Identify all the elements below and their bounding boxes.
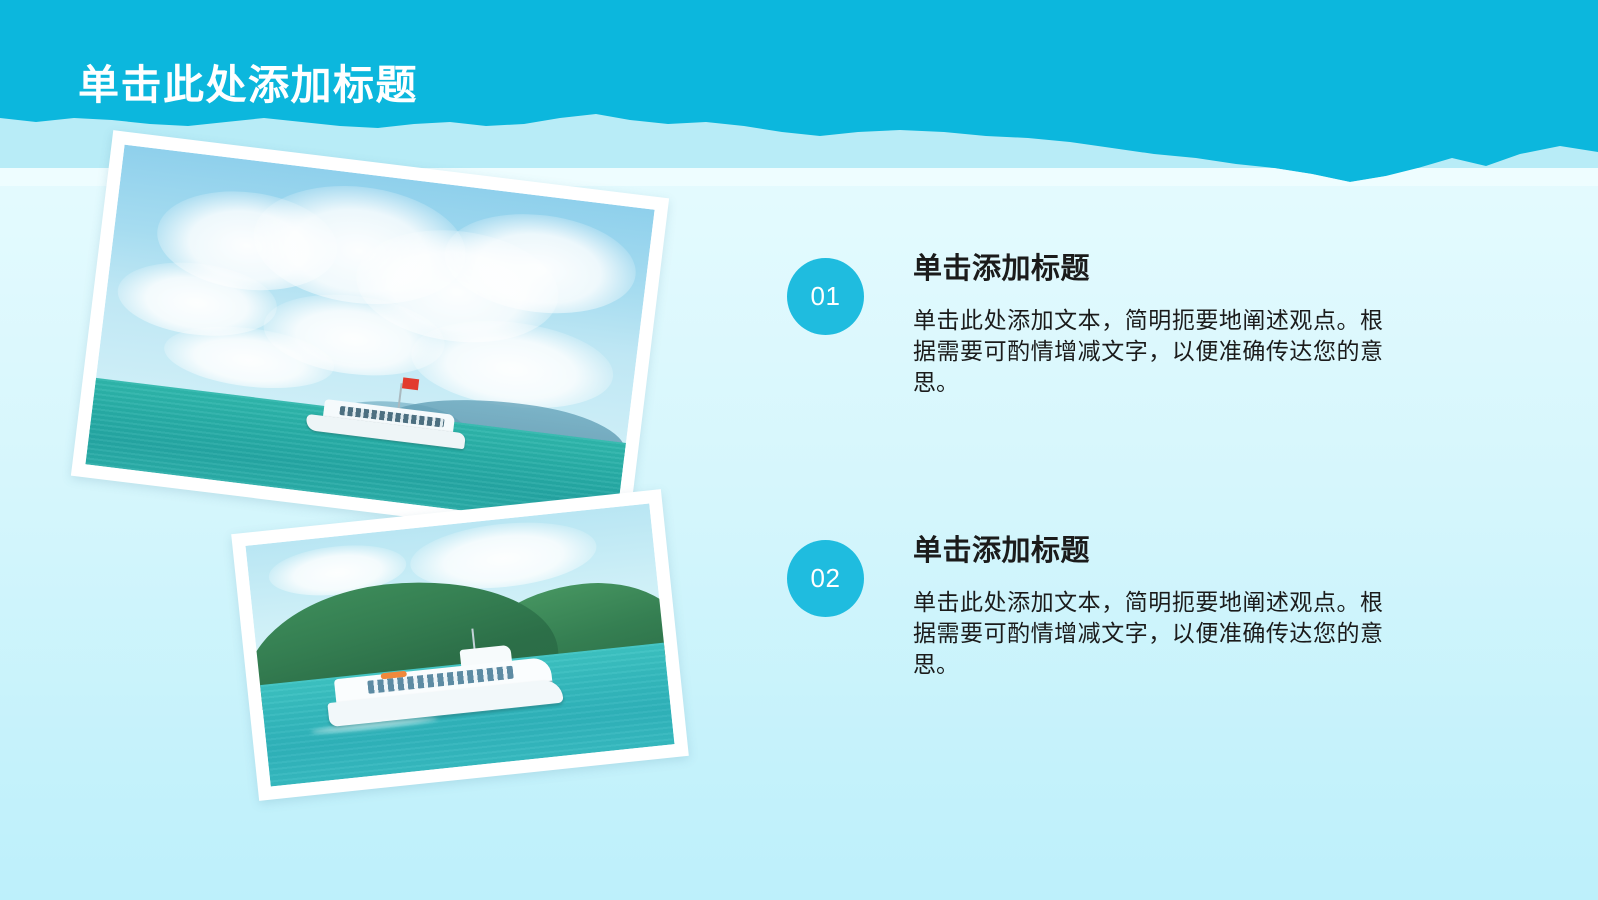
- scene-ferry-island: [245, 503, 674, 786]
- photo-frame-boat-clouds[interactable]: [71, 130, 669, 544]
- scene-boat-clouds: [85, 145, 654, 530]
- photo-image-ferry-island: [245, 503, 674, 786]
- photo-collage: [0, 0, 800, 900]
- item-title: 单击添加标题: [913, 250, 1407, 288]
- item-body: 单击此处添加文本，简明扼要地阐述观点。根据需要可酌情增减文字，以便准确传达您的意…: [913, 587, 1383, 680]
- red-flag-icon: [402, 377, 419, 390]
- list-item[interactable]: 01 单击添加标题 单击此处添加文本，简明扼要地阐述观点。根据需要可酌情增减文字…: [787, 250, 1407, 480]
- list-item[interactable]: 02 单击添加标题 单击此处添加文本，简明扼要地阐述观点。根据需要可酌情增减文字…: [787, 532, 1407, 762]
- slide-canvas: 单击此处添加标题: [0, 0, 1598, 900]
- item-text-block: 单击添加标题 单击此处添加文本，简明扼要地阐述观点。根据需要可酌情增减文字，以便…: [913, 532, 1407, 680]
- item-number-badge: 01: [787, 258, 864, 335]
- page-title: 单击此处添加标题: [78, 60, 418, 110]
- photo-image-boat-clouds: [85, 145, 654, 530]
- content-list: 01 单击添加标题 单击此处添加文本，简明扼要地阐述观点。根据需要可酌情增减文字…: [787, 250, 1407, 762]
- item-title: 单击添加标题: [913, 532, 1407, 570]
- item-text-block: 单击添加标题 单击此处添加文本，简明扼要地阐述观点。根据需要可酌情增减文字，以便…: [913, 250, 1407, 398]
- item-number-badge: 02: [787, 540, 864, 617]
- photo-frame-ferry-island[interactable]: [231, 489, 689, 801]
- item-body: 单击此处添加文本，简明扼要地阐述观点。根据需要可酌情增减文字，以便准确传达您的意…: [913, 305, 1383, 398]
